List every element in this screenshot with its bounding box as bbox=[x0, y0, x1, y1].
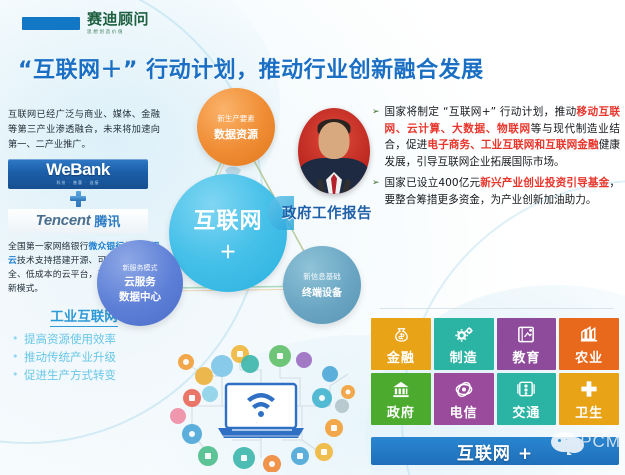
medical-cross-icon bbox=[578, 379, 600, 399]
text-run: 国家将制定 “互联网+” 行动计划，推动 bbox=[385, 106, 577, 118]
book-cap-icon bbox=[515, 324, 537, 344]
industry-tile-农业[interactable]: 农业 bbox=[559, 318, 619, 370]
brand-logo: 赛迪顾问 思想创造价值 bbox=[22, 8, 149, 38]
list-item: 提高资源使用效率 bbox=[8, 331, 160, 349]
bubble-internet-plus: 互联网 ＋ bbox=[169, 174, 287, 292]
industry-tile-卫生[interactable]: 卫生 bbox=[559, 373, 619, 425]
page-title: “互联网＋” 行动计划，推动行业创新融合发展 bbox=[18, 52, 618, 84]
bubble-terminal-device-sub: 新信息基础 bbox=[303, 271, 341, 282]
photo-caption: 政府工作报告 bbox=[282, 202, 372, 223]
bubble-data-resource: 新生产要素 数据资源 bbox=[197, 88, 275, 166]
industry-tile-label: 农业 bbox=[575, 352, 603, 365]
bubble-terminal-device: 新信息基础 终端设备 bbox=[283, 246, 361, 324]
industry-tile-交通[interactable]: 交通 bbox=[497, 373, 557, 425]
left-paragraph-1: 互联网已经广泛与商业、媒体、金融等第三产业渗透融合，未来将加速向第一、二产业推广… bbox=[8, 108, 160, 153]
bubble-terminal-device-label: 终端设备 bbox=[302, 284, 342, 299]
webank-logo: WeBank 科技 · 普惠 · 连接 bbox=[8, 159, 148, 189]
bubble-cloud-service-label2: 数据中心 bbox=[119, 289, 161, 304]
industry-tile-label: 制造 bbox=[450, 352, 478, 365]
text-run: 国家已设立400亿元 bbox=[385, 177, 481, 189]
list-item: 推动传统产业升级 bbox=[8, 349, 160, 367]
bubble-cloud-service-label: 云服务 bbox=[124, 274, 156, 289]
partner-logos: WeBank 科技 · 普惠 · 连接 Tencent 腾讯 bbox=[8, 159, 148, 233]
industry-tile-电信[interactable]: 电信 bbox=[434, 373, 494, 425]
arrow-marker-icon: ➢ bbox=[372, 175, 380, 208]
industry-tile-label: 政府 bbox=[387, 407, 415, 420]
text-run: 新兴产业创业投资引导基金 bbox=[480, 177, 609, 189]
slide-root: 赛迪顾问 思想创造价值 “互联网＋” 行动计划，推动行业创新融合发展 互联网已经… bbox=[0, 0, 625, 475]
iot-network-illustration bbox=[152, 336, 370, 472]
tencent-wordmark-en: Tencent bbox=[36, 212, 91, 229]
bubble-data-resource-sub: 新生产要素 bbox=[217, 113, 255, 124]
bottom-banner-text: 互联网 + bbox=[457, 439, 533, 464]
watermark: PCM bbox=[551, 432, 621, 452]
tencent-wordmark-cn: 腾讯 bbox=[94, 211, 120, 230]
text-run: 新模式。 bbox=[8, 284, 43, 294]
wechat-icon bbox=[551, 432, 577, 452]
bubble-data-resource-label: 数据资源 bbox=[214, 126, 258, 142]
industry-tile-教育[interactable]: 教育 bbox=[497, 318, 557, 370]
right-bullet-2-text: 国家已设立400亿元新兴产业创业投资引导基金，要整合筹措更多资金，为产业创新加油… bbox=[385, 175, 620, 208]
webank-wordmark: WeBank bbox=[46, 161, 110, 178]
right-bullet-2: ➢ 国家已设立400亿元新兴产业创业投资引导基金，要整合筹措更多资金，为产业创新… bbox=[372, 175, 620, 208]
photo-head bbox=[319, 122, 350, 159]
webank-tagline: 科技 · 普惠 · 连接 bbox=[56, 180, 99, 186]
bank-icon bbox=[390, 379, 412, 399]
satellite-icon bbox=[453, 379, 475, 399]
right-bullet-1-text: 国家将制定 “互联网+” 行动计划，推动移动互联网、云计算、大数据、物联网等与现… bbox=[385, 104, 620, 170]
gears-icon bbox=[453, 324, 475, 344]
right-bullet-1: ➢ 国家将制定 “互联网+” 行动计划，推动移动互联网、云计算、大数据、物联网等… bbox=[372, 104, 620, 170]
text-run: 全国第一家网络银行 bbox=[8, 242, 89, 252]
industry-tile-金融[interactable]: 金融 bbox=[371, 318, 431, 370]
text-run: 电子商务、工业互联网和互联网金融 bbox=[427, 139, 598, 151]
money-bag-icon bbox=[390, 324, 412, 344]
plus-icon bbox=[70, 191, 86, 207]
logo-tagline: 思想创造价值 bbox=[87, 30, 149, 34]
industry-tile-label: 卫生 bbox=[575, 407, 603, 420]
industry-tile-label: 金融 bbox=[387, 352, 415, 365]
industry-tile-制造[interactable]: 制造 bbox=[434, 318, 494, 370]
right-column: ➢ 国家将制定 “互联网+” 行动计划，推动移动互联网、云计算、大数据、物联网等… bbox=[372, 104, 620, 213]
industry-tile-grid: 金融制造教育农业政府电信交通卫生 bbox=[371, 318, 619, 425]
industry-tile-label: 电信 bbox=[450, 407, 478, 420]
logo-bar-icon bbox=[22, 17, 80, 30]
bubble-cloud-service: 新服务模式 云服务 数据中心 bbox=[97, 240, 183, 326]
field-icon bbox=[578, 324, 600, 344]
bubble-internet-plus-symbol: ＋ bbox=[220, 238, 237, 263]
tencent-logo: Tencent 腾讯 bbox=[8, 209, 148, 233]
industry-tile-政府[interactable]: 政府 bbox=[371, 373, 431, 425]
arrow-marker-icon: ➢ bbox=[372, 104, 380, 170]
plus-separator bbox=[8, 191, 148, 207]
list-item: 促进生产方式转变 bbox=[8, 367, 160, 385]
traffic-light-icon bbox=[515, 379, 537, 399]
industrial-internet-list: 提高资源使用效率推动传统产业升级促进生产方式转变 bbox=[8, 331, 160, 384]
section-divider bbox=[380, 308, 614, 309]
bubble-cloud-service-sub: 新服务模式 bbox=[123, 263, 158, 273]
industry-tile-label: 教育 bbox=[512, 352, 540, 365]
bubble-internet-plus-label: 互联网 bbox=[193, 203, 262, 235]
watermark-text: PCM bbox=[580, 432, 621, 452]
leader-photo bbox=[298, 108, 370, 194]
industry-tile-label: 交通 bbox=[512, 407, 540, 420]
logo-name: 赛迪顾问 bbox=[87, 12, 149, 27]
